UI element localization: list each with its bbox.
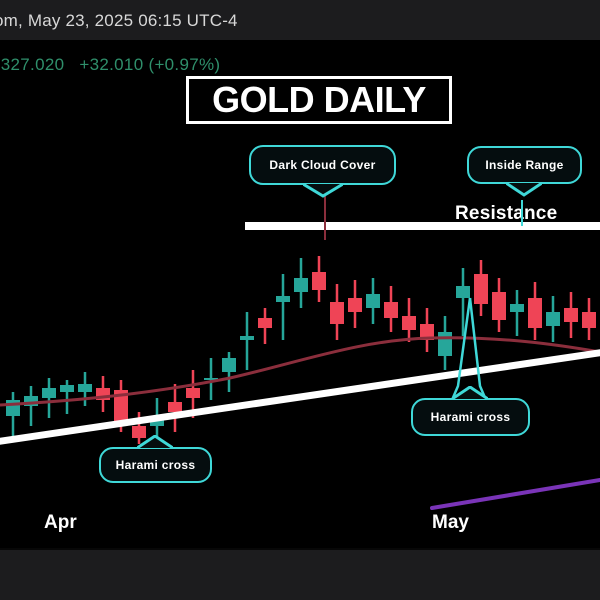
callout-inside-range[interactable]: Inside Range — [467, 146, 582, 184]
callout-harami-cross-left-label: Harami cross — [116, 458, 196, 472]
resistance-label: Resistance — [455, 203, 557, 225]
callout-harami-cross-right-label: Harami cross — [431, 410, 511, 424]
callout-inside-range-label: Inside Range — [485, 158, 563, 172]
quote-change: +32.010 — [79, 55, 143, 74]
screenshot-root: om, May 23, 2025 06:15 UTC-4 3,327.020 +… — [0, 0, 600, 600]
callout-harami-cross-left[interactable]: Harami cross — [99, 447, 212, 483]
callout-dark-cloud-cover-label: Dark Cloud Cover — [269, 158, 375, 172]
callout-inside-range-pointer — [506, 183, 542, 197]
quote-percent: (+0.97%) — [148, 55, 220, 74]
x-axis-tick-may: May — [432, 512, 469, 534]
bottom-bar — [0, 550, 600, 600]
status-bar-datetime: om, May 23, 2025 06:15 UTC-4 — [0, 11, 238, 31]
callout-dark-cloud-cover[interactable]: Dark Cloud Cover — [249, 145, 396, 185]
quote-line: 3,327.020 +32.010 (+0.97%) — [0, 55, 220, 75]
status-bar: om, May 23, 2025 06:15 UTC-4 — [0, 0, 600, 40]
callout-dark-cloud-cover-pointer — [303, 184, 343, 198]
quote-price: 3,327.020 — [0, 55, 64, 74]
callout-harami-cross-right[interactable]: Harami cross — [411, 398, 530, 436]
callout-harami-cross-right-pointer — [452, 386, 488, 400]
callout-harami-cross-left-pointer — [137, 435, 173, 449]
x-axis-tick-apr: Apr — [44, 512, 77, 534]
page-title: GOLD DAILY — [212, 82, 426, 118]
chart-title-box: GOLD DAILY — [186, 76, 452, 124]
